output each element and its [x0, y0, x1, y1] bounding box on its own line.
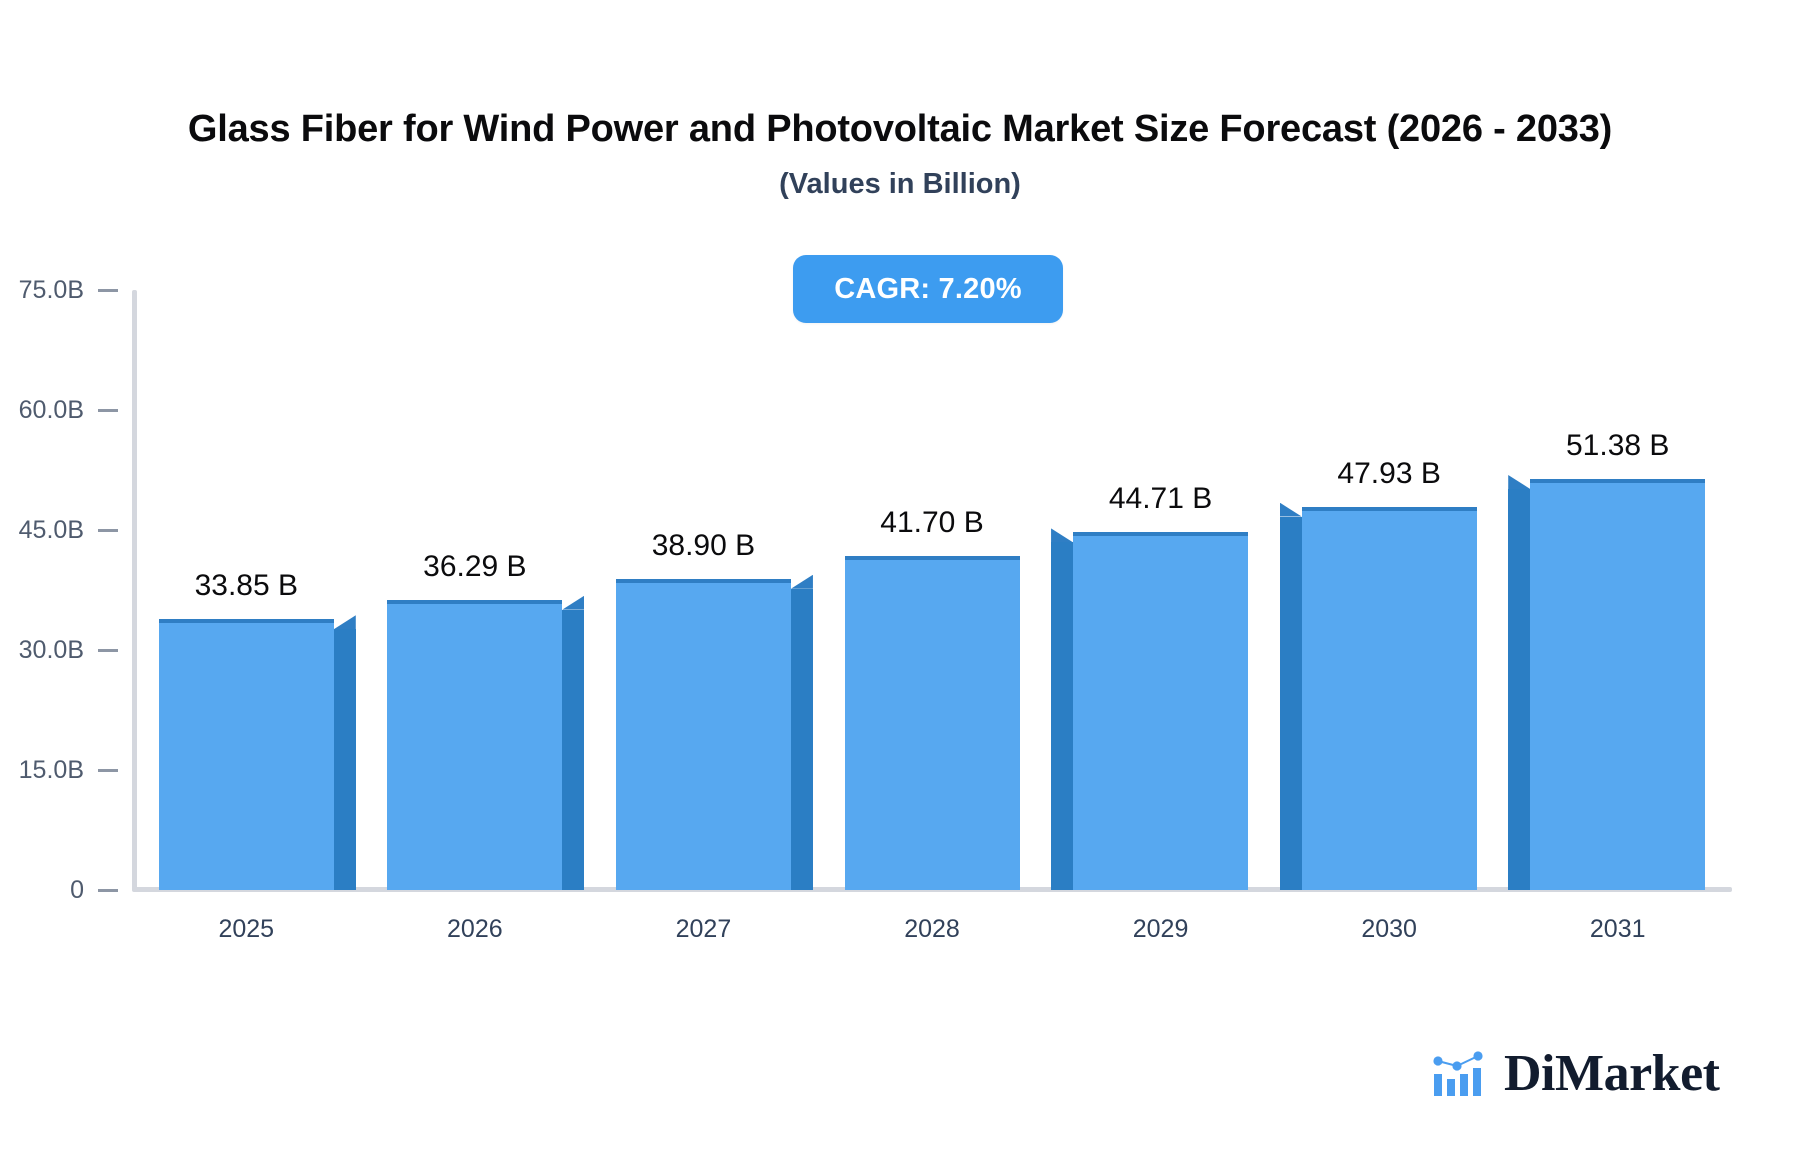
bar-front-face	[1073, 532, 1248, 890]
bar-column	[1073, 532, 1248, 890]
x-axis-tick-label: 2025	[218, 915, 274, 944]
bar-front-face	[159, 619, 334, 890]
bar-top-face	[334, 615, 356, 629]
x-axis-tick-label: 2026	[447, 915, 503, 944]
y-axis-tick-label: 45.0B	[19, 516, 84, 545]
bar-front-face	[616, 579, 791, 890]
bar-front-face	[387, 600, 562, 890]
y-axis-tick-label: 30.0B	[19, 636, 84, 665]
bar-front-face	[1530, 479, 1705, 890]
x-axis-tick-label: 2029	[1133, 915, 1189, 944]
x-axis-tick-label: 2027	[676, 915, 732, 944]
y-axis-tick-label: 60.0B	[19, 396, 84, 425]
bar-value-label: 47.93 B	[1337, 457, 1440, 491]
x-axis-tick-label: 2028	[904, 915, 960, 944]
bar-column	[159, 619, 334, 890]
y-axis-tick-label: 0	[70, 876, 84, 905]
bar-column	[1302, 507, 1477, 890]
bar-value-label: 44.71 B	[1109, 482, 1212, 516]
x-axis-tick-label: 2031	[1590, 915, 1646, 944]
bar-column	[1530, 479, 1705, 890]
bar-column	[616, 579, 791, 890]
bar-front-face	[1302, 507, 1477, 890]
cagr-badge-label: CAGR: 7.20%	[834, 273, 1022, 306]
bar-column	[387, 600, 562, 890]
bar-top-face	[1508, 475, 1530, 489]
bar-value-label: 38.90 B	[652, 529, 755, 563]
bar-side-face	[791, 589, 813, 890]
chart-title: Glass Fiber for Wind Power and Photovolt…	[0, 108, 1800, 151]
bar-top-face	[1280, 503, 1302, 517]
bar-value-label: 33.85 B	[195, 569, 298, 603]
bar-side-face	[1051, 542, 1073, 890]
bar-top-face	[791, 575, 813, 589]
y-axis-tick-mark	[98, 769, 118, 772]
y-axis-tick-label: 15.0B	[19, 756, 84, 785]
logo-wordmark: DiMarket	[1504, 1048, 1719, 1100]
bar-column	[845, 556, 1020, 890]
bar-value-label: 51.38 B	[1566, 429, 1669, 463]
x-axis-tick-label: 2030	[1361, 915, 1417, 944]
y-axis-line	[132, 290, 137, 891]
bar-chart-logo-icon	[1432, 1050, 1490, 1098]
dimarket-logo: DiMarket	[1432, 1048, 1719, 1100]
bar-top-face	[562, 596, 584, 610]
bar-top-face	[1051, 528, 1073, 542]
bar-side-face	[562, 610, 584, 890]
y-axis-tick-mark	[98, 289, 118, 292]
bar-side-face	[1280, 517, 1302, 890]
y-axis-tick-mark	[98, 889, 118, 892]
cagr-badge: CAGR: 7.20%	[793, 255, 1063, 323]
bar-front-face	[845, 556, 1020, 890]
bar-value-label: 36.29 B	[423, 550, 526, 584]
bar-value-label: 41.70 B	[880, 506, 983, 540]
chart-page: Glass Fiber for Wind Power and Photovolt…	[0, 0, 1800, 1156]
y-axis-tick-mark	[98, 649, 118, 652]
bar-side-face	[1508, 489, 1530, 890]
chart-subtitle: (Values in Billion)	[0, 168, 1800, 201]
y-axis-tick-mark	[98, 529, 118, 532]
bar-side-face	[334, 629, 356, 890]
y-axis-tick-mark	[98, 409, 118, 412]
y-axis-tick-label: 75.0B	[19, 276, 84, 305]
